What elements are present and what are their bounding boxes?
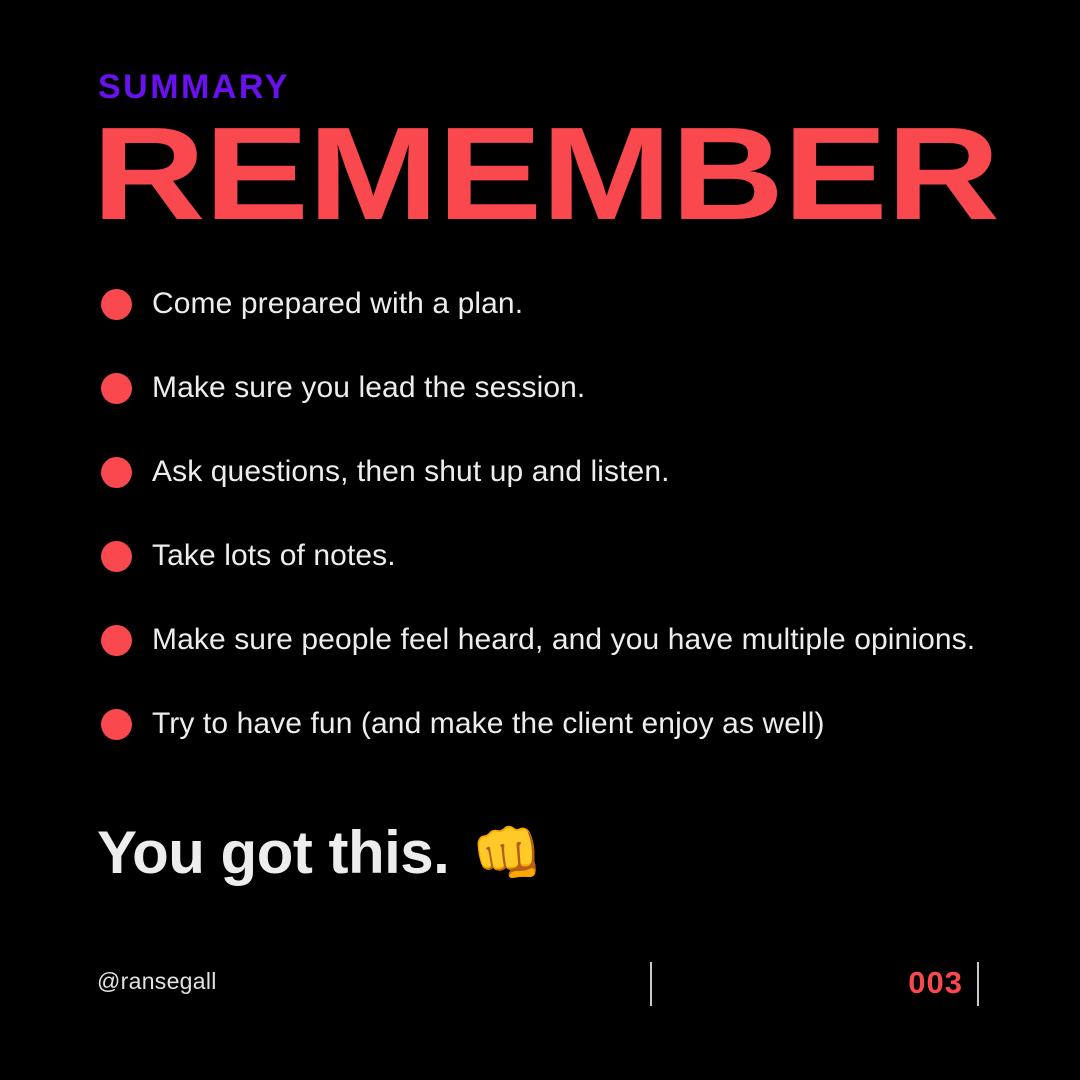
footer-divider-right (977, 962, 979, 1006)
page-number: 003 (818, 965, 963, 1001)
list-item: Make sure you lead the session. (101, 367, 1031, 451)
list-item-label: Try to have fun (and make the client enj… (152, 703, 1031, 745)
list-item: Try to have fun (and make the client enj… (101, 703, 1031, 787)
closing-statement: You got this. 👊 (97, 818, 543, 887)
bullet-dot-icon (101, 289, 132, 320)
slide-canvas: SUMMARY REMEMBER Come prepared with a pl… (0, 0, 1080, 1080)
list-item: Ask questions, then shut up and listen. (101, 451, 1031, 535)
page-title: REMEMBER (92, 108, 999, 240)
bullet-dot-icon (101, 541, 132, 572)
closing-text: You got this. (97, 818, 449, 887)
bullet-dot-icon (101, 373, 132, 404)
footer: @ransegall 003 (0, 955, 1080, 1015)
author-handle: @ransegall (97, 968, 217, 995)
bullet-dot-icon (101, 625, 132, 656)
checklist: Come prepared with a plan. Make sure you… (101, 283, 1031, 787)
list-item-label: Come prepared with a plan. (152, 283, 1031, 325)
bullet-dot-icon (101, 709, 132, 740)
list-item-label: Take lots of notes. (152, 535, 1031, 577)
list-item-label: Ask questions, then shut up and listen. (152, 451, 1031, 493)
list-item: Take lots of notes. (101, 535, 1031, 619)
list-item: Make sure people feel heard, and you hav… (101, 619, 1031, 703)
bullet-dot-icon (101, 457, 132, 488)
footer-divider-left (650, 962, 652, 1006)
list-item-label: Make sure people feel heard, and you hav… (152, 619, 1031, 661)
list-item-label: Make sure you lead the session. (152, 367, 1031, 409)
kicker-label: SUMMARY (98, 70, 290, 104)
oncoming-fist-icon: 👊 (471, 824, 543, 882)
list-item: Come prepared with a plan. (101, 283, 1031, 367)
